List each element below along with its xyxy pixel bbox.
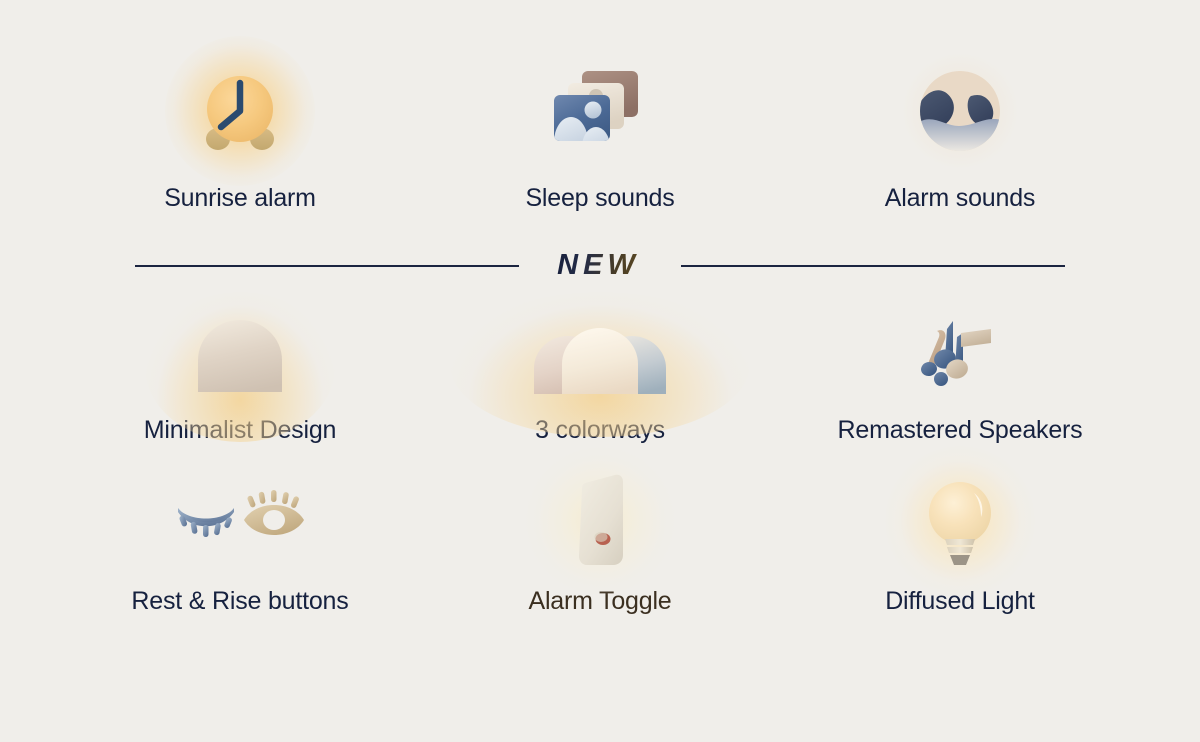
feature-cell-diffused-light: Diffused Light [780, 469, 1140, 616]
feature-cell-3-colorways: 3 colorways [420, 298, 780, 445]
feature-label-sleep-sounds: Sleep sounds [525, 184, 674, 213]
divider-line-right [681, 265, 1065, 267]
new-features-row-2: Rest & Rise buttons [60, 469, 1140, 616]
divider-line-left [135, 265, 519, 267]
feature-cell-rest-rise-buttons: Rest & Rise buttons [60, 469, 420, 616]
feature-label-minimalist-design: Minimalist Design [144, 416, 337, 445]
new-divider: NEW [135, 251, 1065, 280]
light-bulb-icon [925, 469, 995, 573]
toggle-switch-icon [563, 469, 637, 573]
feature-cell-sunrise-alarm: Sunrise alarm [60, 52, 420, 213]
alarm-clock-icon [190, 52, 290, 170]
feature-cell-remastered-speakers: Remastered Speakers [780, 298, 1140, 445]
three-domes-icon [500, 298, 700, 402]
feature-label-rest-rise-buttons: Rest & Rise buttons [131, 587, 348, 616]
eyes-rest-rise-icon [174, 469, 306, 573]
divider-label-new: NEW [557, 251, 643, 280]
feature-cell-minimalist-design: Minimalist Design [60, 298, 420, 445]
feature-cell-sleep-sounds: Sleep sounds [420, 52, 780, 213]
feature-cell-alarm-sounds: Alarm sounds [780, 52, 1140, 213]
stacked-cards-landscape-icon [552, 52, 648, 170]
feature-label-alarm-sounds: Alarm sounds [885, 184, 1035, 213]
dome-glow-icon [188, 298, 292, 402]
feature-label-diffused-light: Diffused Light [885, 587, 1035, 616]
feature-label-3-colorways: 3 colorways [535, 416, 665, 445]
feature-grid-page: Sunrise alarm [0, 0, 1200, 742]
music-notes-icon [917, 298, 1003, 402]
feature-label-sunrise-alarm: Sunrise alarm [164, 184, 316, 213]
circle-abstract-landscape-icon [919, 52, 1001, 170]
feature-label-alarm-toggle: Alarm Toggle [528, 587, 671, 616]
new-features-row-1: Minimalist Design [60, 298, 1140, 445]
feature-label-remastered-speakers: Remastered Speakers [838, 416, 1083, 445]
feature-cell-alarm-toggle: Alarm Toggle [420, 469, 780, 616]
existing-features-row: Sunrise alarm [60, 52, 1140, 213]
